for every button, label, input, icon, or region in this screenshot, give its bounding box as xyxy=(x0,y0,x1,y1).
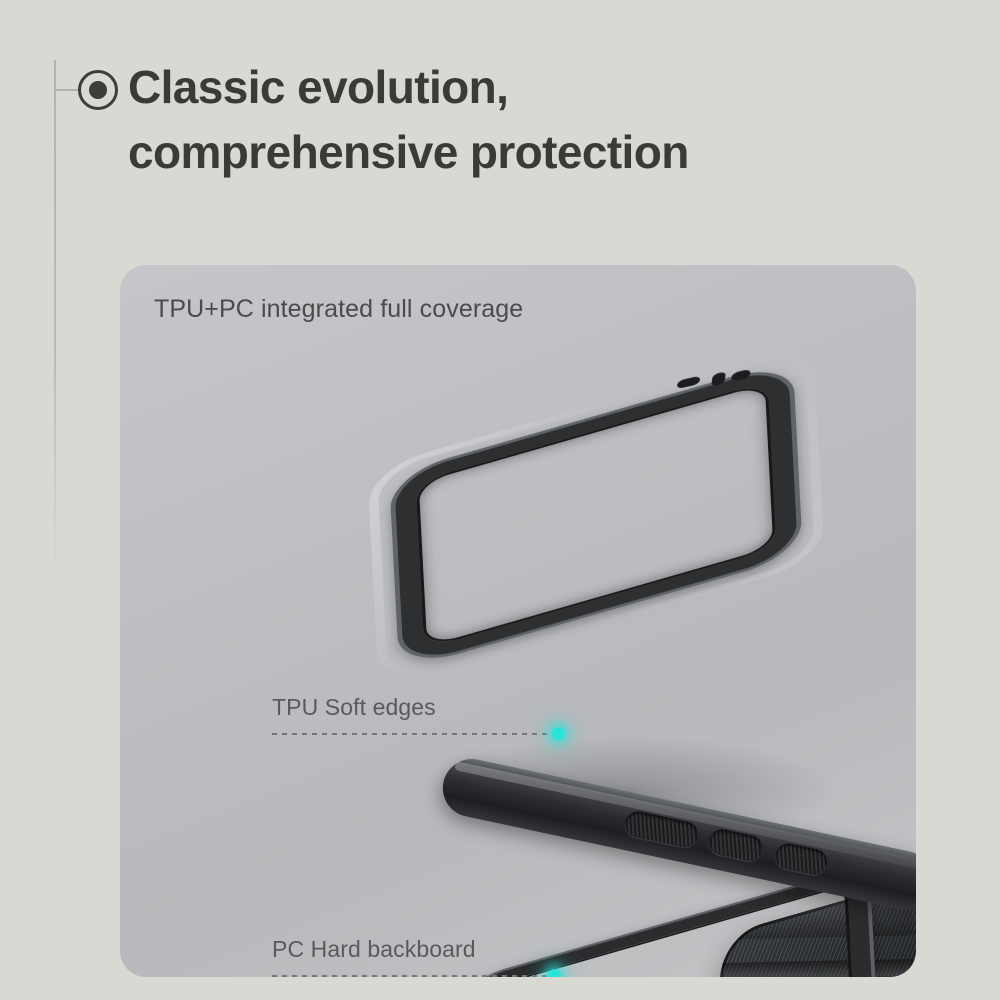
tpu-side-rail xyxy=(437,754,916,915)
product-illustration xyxy=(120,265,916,977)
annotation-leader-line xyxy=(272,733,558,735)
bullseye-icon xyxy=(78,70,118,110)
annotation-label: TPU Soft edges xyxy=(272,694,436,721)
product-feature-slide: Classic evolution, comprehensive protect… xyxy=(0,0,1000,1000)
volume-button-cutout-2 xyxy=(707,827,765,864)
page-title-line-1: Classic evolution, xyxy=(128,61,508,113)
volume-button-cutout-1 xyxy=(622,809,700,850)
vertical-rule xyxy=(54,60,56,580)
bumper-ring xyxy=(389,359,803,670)
page-title-line-2: comprehensive protection xyxy=(128,120,888,185)
power-button-cutout xyxy=(773,841,829,877)
feature-panel: TPU+PC integrated full coverage xyxy=(120,265,916,977)
cyan-dot-marker xyxy=(548,969,561,977)
annotation-label: PC Hard backboard xyxy=(272,936,476,963)
annotation-leader-line xyxy=(272,975,550,977)
cyan-dot-marker xyxy=(552,727,565,740)
rule-tick xyxy=(54,89,78,91)
tpu-bumper-frame xyxy=(389,359,803,670)
page-title: Classic evolution, comprehensive protect… xyxy=(128,55,888,186)
